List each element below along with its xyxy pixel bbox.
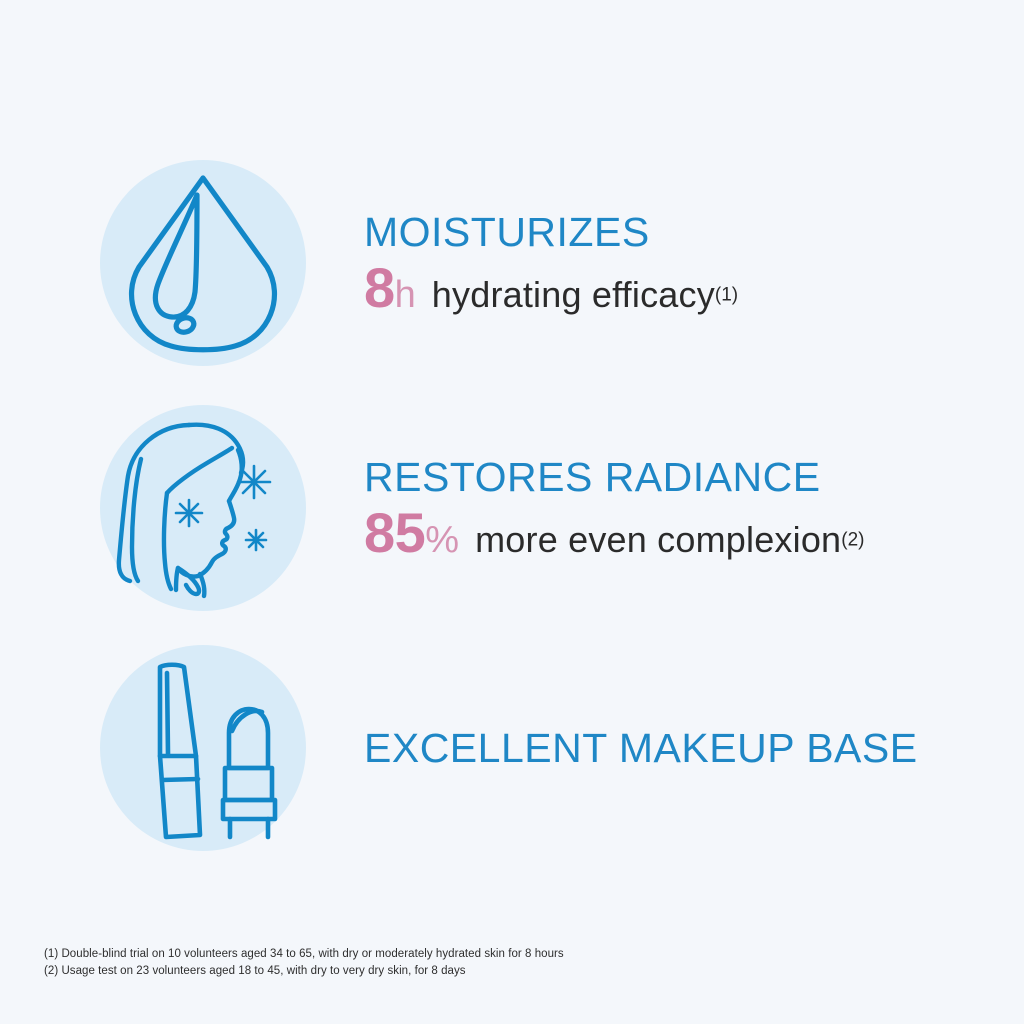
claim-description: more even complexion — [475, 519, 841, 560]
footnotes: (1) Double-blind trial on 10 volunteers … — [44, 946, 944, 980]
claim-unit: h — [395, 274, 416, 316]
benefit-icon-medallion — [100, 405, 306, 611]
face-profile-sparkle-icon — [92, 397, 314, 619]
claim-figure: 85 — [364, 501, 425, 564]
benefit-claim: 85%more even complexion(2) — [364, 505, 984, 561]
water-drop-icon — [92, 152, 314, 374]
claim-figure: 8 — [364, 256, 395, 319]
footnote-line: (2) Usage test on 23 volunteers aged 18 … — [44, 963, 944, 980]
benefit-row: EXCELLENT MAKEUP BASE — [0, 645, 1024, 851]
benefit-text: EXCELLENT MAKEUP BASE — [364, 726, 1024, 770]
footnote-line: (1) Double-blind trial on 10 volunteers … — [44, 946, 944, 963]
benefit-row: RESTORES RADIANCE 85%more even complexio… — [0, 405, 1024, 611]
sparkle-glyph — [176, 466, 270, 550]
claim-unit: % — [425, 519, 459, 561]
benefit-icon-medallion — [100, 645, 306, 851]
benefit-claim: 8hhydrating efficacy(1) — [364, 260, 984, 316]
mascara-lipstick-icon — [92, 637, 314, 859]
benefit-row: MOISTURIZES 8hhydrating efficacy(1) — [0, 160, 1024, 366]
claim-description: hydrating efficacy — [432, 274, 715, 315]
claim-reference-marker: (2) — [841, 530, 864, 551]
benefit-heading: EXCELLENT MAKEUP BASE — [364, 726, 984, 770]
infographic-page: MOISTURIZES 8hhydrating efficacy(1) — [0, 0, 1024, 1024]
benefit-text: MOISTURIZES 8hhydrating efficacy(1) — [364, 210, 1024, 316]
benefit-text: RESTORES RADIANCE 85%more even complexio… — [364, 455, 1024, 561]
benefit-heading: MOISTURIZES — [364, 210, 984, 254]
claim-reference-marker: (1) — [715, 285, 738, 306]
benefit-icon-medallion — [100, 160, 306, 366]
benefit-heading: RESTORES RADIANCE — [364, 455, 984, 499]
